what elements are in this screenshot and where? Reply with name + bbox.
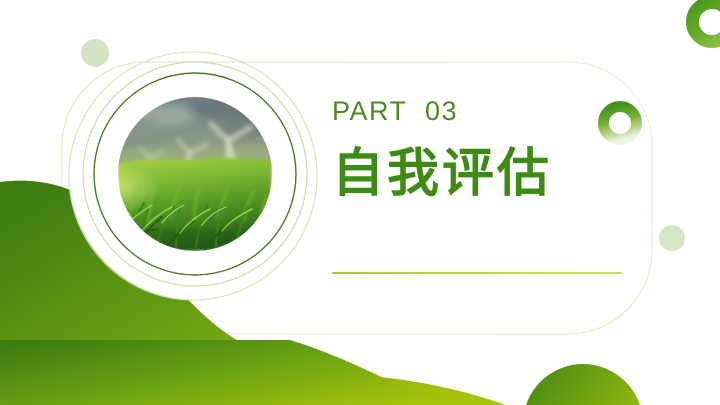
part-label: PART 03 — [332, 98, 652, 125]
page-title: 自我评估 — [332, 147, 652, 202]
dot-top-left-icon — [81, 39, 109, 67]
wind-turbine-photo — [118, 97, 272, 251]
title-divider — [332, 272, 622, 274]
title-block: PART 03 自我评估 — [332, 98, 652, 202]
slide-canvas: PART 03 自我评估 — [0, 0, 720, 405]
bottom-right-green-dome — [523, 364, 643, 405]
bottom-left-green-wave-tail — [0, 340, 452, 405]
ring-top-right-icon — [693, 3, 720, 42]
dot-right-icon — [659, 225, 685, 251]
